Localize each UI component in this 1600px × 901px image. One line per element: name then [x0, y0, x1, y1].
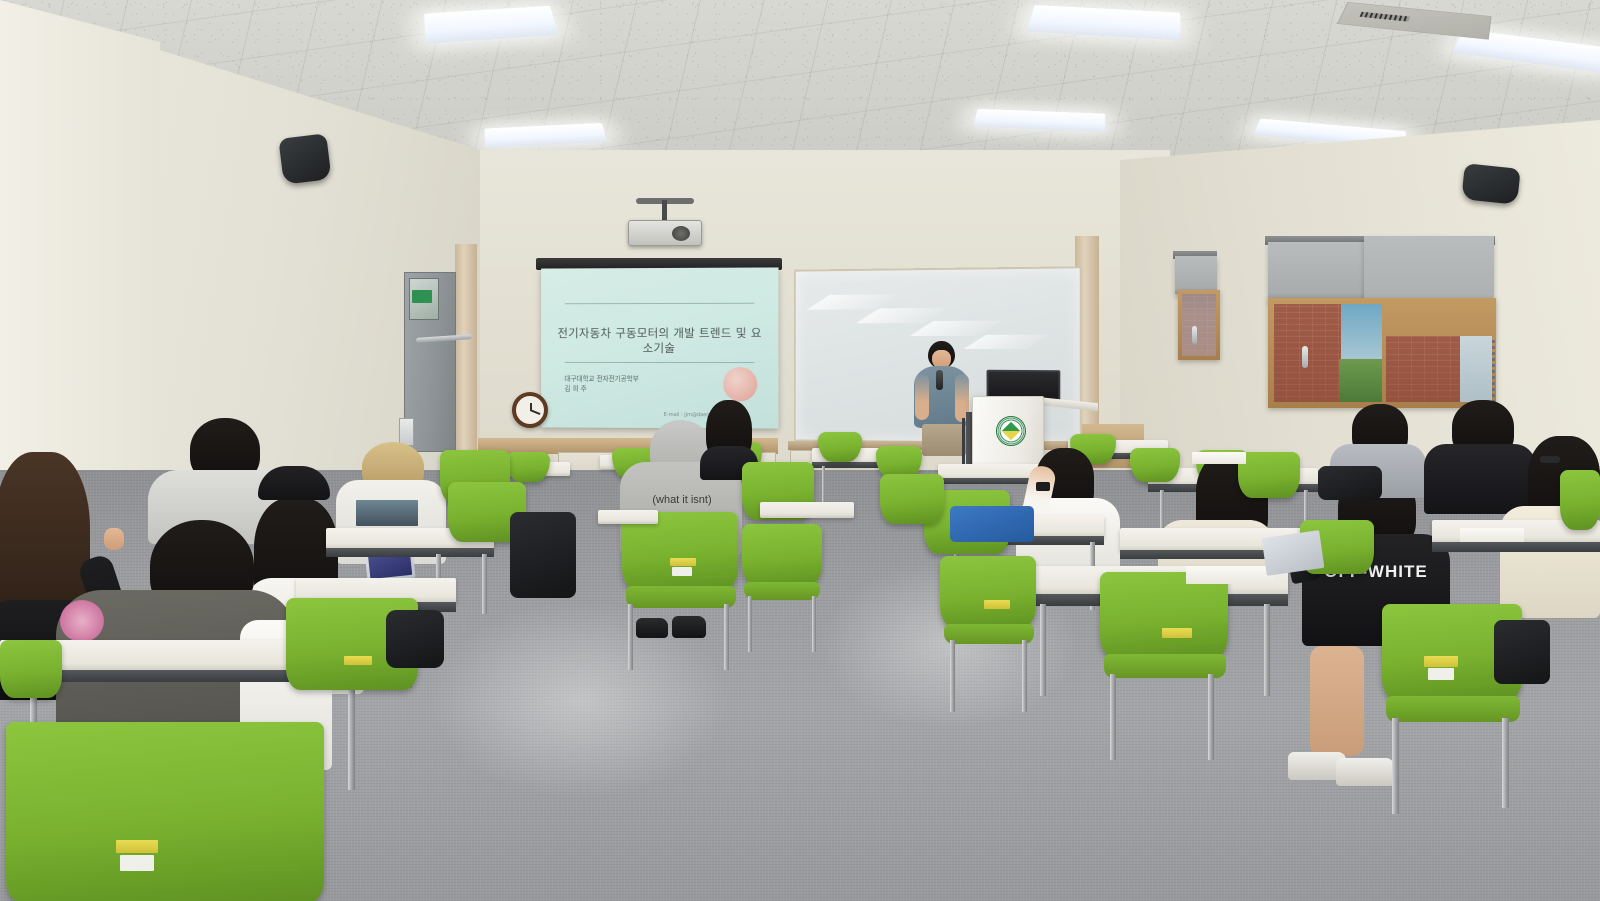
- wall-pillar: [455, 244, 477, 476]
- notebook: [1186, 566, 1274, 584]
- chair-seat[interactable]: [744, 582, 820, 600]
- hoodie-back-text: (what it isnt): [626, 494, 738, 506]
- blind-chain[interactable]: [1492, 340, 1495, 410]
- chair-leg: [1110, 674, 1116, 760]
- chair-leg: [628, 604, 633, 670]
- chair-seat[interactable]: [944, 624, 1034, 644]
- chair-label: [1424, 656, 1458, 667]
- chair-leg: [950, 640, 955, 712]
- chair[interactable]: [1560, 470, 1600, 530]
- notebook: [1460, 528, 1524, 542]
- chair[interactable]: [880, 474, 944, 524]
- slide-presenter-line: 김 희 주: [565, 385, 587, 393]
- chair-leg: [812, 596, 816, 652]
- window-glass: [1274, 304, 1382, 402]
- desk-leg: [1040, 604, 1046, 696]
- chair-leg: [1502, 718, 1509, 808]
- chair-leg: [1022, 640, 1027, 712]
- student-legs: [1310, 646, 1364, 756]
- desk-leg: [482, 554, 487, 614]
- slide-title: 전기자동차 구동모터의 개발 트렌드 및 요소기술: [555, 325, 764, 356]
- chair[interactable]: [1100, 572, 1228, 658]
- presenter-shorts: [922, 424, 966, 456]
- chair-seat[interactable]: [626, 586, 736, 608]
- chair-label: [670, 558, 696, 566]
- backpack[interactable]: [1318, 466, 1382, 500]
- student-shoe: [636, 618, 668, 638]
- chair[interactable]: [6, 722, 324, 901]
- mic-stand: [962, 418, 965, 466]
- wrist-watch: [1036, 482, 1050, 491]
- window-glass: [1386, 336, 1492, 402]
- student-shoe: [1336, 758, 1394, 786]
- university-emblem: [996, 416, 1026, 446]
- slide-affiliation: 대구대학교 전자전기공학부 김 희 주: [565, 373, 731, 394]
- slide-affiliation-line: 대구대학교 전자전기공학부: [565, 374, 639, 382]
- microphone[interactable]: [936, 370, 943, 390]
- student-shoe: [672, 616, 706, 638]
- chair-label: [1428, 668, 1454, 680]
- presenter-arm: [915, 374, 929, 420]
- roller-blind[interactable]: [1268, 242, 1364, 302]
- chair[interactable]: [1130, 448, 1180, 482]
- chair-label: [344, 656, 372, 665]
- desk-leg: [1264, 604, 1270, 696]
- chair-leg: [1392, 718, 1399, 814]
- student-torso: [1424, 444, 1536, 514]
- wall-speaker: [278, 133, 331, 185]
- tablet[interactable]: [1262, 530, 1325, 576]
- backpack[interactable]: [510, 512, 576, 598]
- exit-sign: [412, 290, 432, 303]
- desk: [598, 510, 658, 524]
- chair-label: [116, 840, 158, 853]
- chair-label: [1162, 628, 1192, 638]
- chair-seat[interactable]: [1386, 696, 1520, 722]
- classroom-photo: 전기자동차 구동모터의 개발 트렌드 및 요소기술 대구대학교 전자전기공학부 …: [0, 0, 1600, 901]
- chair-label: [984, 600, 1010, 609]
- wall-speaker: [1461, 163, 1520, 205]
- chair-leg: [748, 596, 752, 652]
- chair[interactable]: [0, 640, 62, 698]
- blue-tote-bag[interactable]: [950, 506, 1034, 542]
- chair[interactable]: [940, 556, 1036, 628]
- eyeglasses: [1540, 456, 1560, 463]
- chair-leg: [724, 604, 729, 670]
- chair[interactable]: [742, 524, 822, 586]
- student-hand: [104, 528, 124, 550]
- roller-blind[interactable]: [1175, 256, 1217, 294]
- window-glass: [1182, 294, 1216, 356]
- desk: [760, 502, 854, 518]
- chair-label: [120, 855, 154, 871]
- chair-label: [672, 567, 692, 576]
- desk-leg: [348, 680, 355, 790]
- desk-edge: [326, 548, 494, 557]
- backpack[interactable]: [1494, 620, 1550, 684]
- window-handle[interactable]: [1192, 326, 1197, 344]
- wall-clock: [512, 392, 548, 428]
- projector-mount-pole: [662, 200, 667, 222]
- bag[interactable]: [386, 610, 444, 668]
- door-card-reader[interactable]: [399, 418, 414, 446]
- chair[interactable]: [506, 452, 550, 482]
- chair[interactable]: [818, 432, 862, 462]
- tshirt-graphic: [356, 500, 418, 526]
- chair[interactable]: [1238, 452, 1300, 498]
- handheld-fan[interactable]: [60, 600, 104, 642]
- desk-edge: [1432, 542, 1600, 552]
- desk-leg: [822, 466, 825, 504]
- slide-logo: [723, 367, 757, 401]
- ceiling-projector: [628, 220, 702, 246]
- window-handle[interactable]: [1302, 346, 1308, 368]
- notebook: [1192, 452, 1246, 464]
- chair-leg: [1208, 674, 1214, 760]
